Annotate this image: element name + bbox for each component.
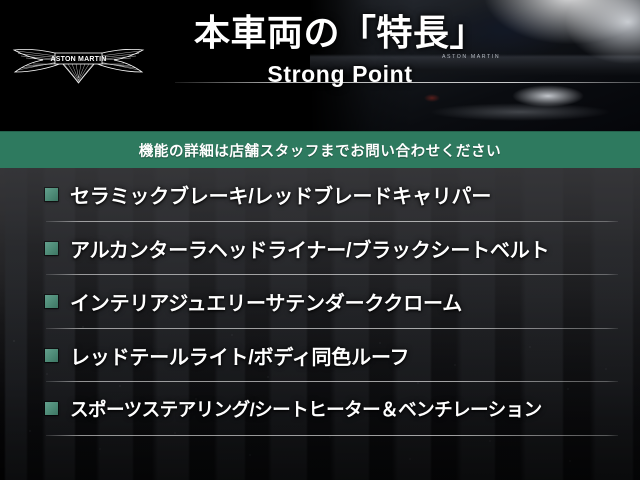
header-banner: ASTON MARTIN bbox=[0, 0, 640, 131]
list-item: スポーツステアリング/シートヒーター＆ベンチレーション bbox=[0, 382, 640, 436]
feature-label: スポーツステアリング/シートヒーター＆ベンチレーション bbox=[70, 395, 542, 422]
strong-point-slide: ASTON MARTIN bbox=[0, 0, 640, 480]
feature-label: アルカンターラヘッドライナー/ブラックシートベルト bbox=[70, 234, 549, 263]
square-bullet-icon bbox=[45, 295, 58, 308]
info-banner-text: 機能の詳細は店舗スタッフまでお問い合わせください bbox=[139, 140, 501, 161]
title-divider bbox=[175, 82, 640, 83]
feature-label: セラミックブレーキ/レッドブレードキャリパー bbox=[70, 180, 491, 209]
page-title-jp: 本車両の「特長」 bbox=[170, 14, 510, 53]
info-banner: 機能の詳細は店舗スタッフまでお問い合わせください bbox=[0, 131, 640, 168]
list-item: セラミックブレーキ/レッドブレードキャリパー bbox=[0, 168, 640, 222]
square-bullet-icon bbox=[45, 188, 58, 201]
feature-label: インテリアジュエリーサテンダーククローム bbox=[70, 287, 462, 316]
list-item: インテリアジュエリーサテンダーククローム bbox=[0, 275, 640, 329]
list-item: アルカンターラヘッドライナー/ブラックシートベルト bbox=[0, 222, 640, 276]
svg-text:ASTON MARTIN: ASTON MARTIN bbox=[51, 56, 107, 63]
square-bullet-icon bbox=[45, 349, 58, 362]
feature-list: セラミックブレーキ/レッドブレードキャリパー アルカンターラヘッドライナー/ブラ… bbox=[0, 168, 640, 480]
page-title-en: Strong Point bbox=[170, 61, 510, 88]
aston-martin-logo: ASTON MARTIN bbox=[6, 33, 151, 95]
feature-label: レッドテールライト/ボディ同色ルーフ bbox=[70, 341, 409, 370]
list-item: レッドテールライト/ボディ同色ルーフ bbox=[0, 329, 640, 383]
square-bullet-icon bbox=[45, 402, 58, 415]
square-bullet-icon bbox=[45, 242, 58, 255]
header-title-block: 本車両の「特長」 Strong Point bbox=[170, 14, 510, 88]
